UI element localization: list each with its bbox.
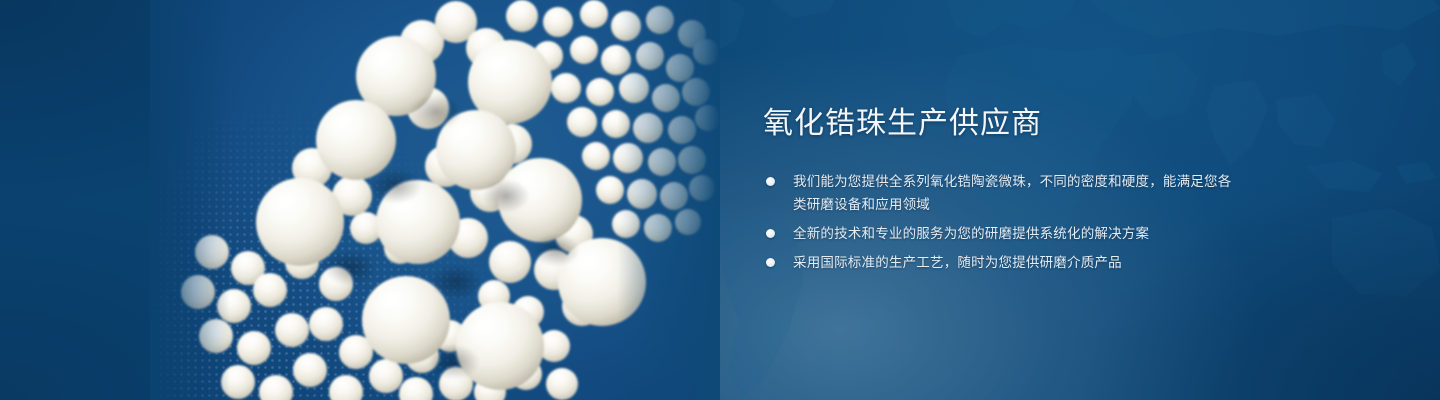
list-item-text: 我们能为您提供全系列氧化锆陶瓷微珠，不同的密度和硬度，能满足您各类研磨设备和应用…: [793, 174, 1231, 212]
list-item: 全新的技术和专业的服务为您的研磨提供系统化的解决方案: [763, 222, 1233, 245]
bead-cluster: [150, 0, 720, 400]
zirconia-beads-photo: [150, 0, 720, 400]
page-title: 氧化锆珠生产供应商: [763, 104, 1233, 144]
banner-copy: 氧化锆珠生产供应商 我们能为您提供全系列氧化锆陶瓷微珠，不同的密度和硬度，能满足…: [763, 104, 1233, 274]
hero-banner: 氧化锆珠生产供应商 我们能为您提供全系列氧化锆陶瓷微珠，不同的密度和硬度，能满足…: [0, 0, 1440, 400]
bullet-dot-icon: [766, 258, 775, 267]
list-item: 我们能为您提供全系列氧化锆陶瓷微珠，不同的密度和硬度，能满足您各类研磨设备和应用…: [763, 170, 1233, 216]
feature-list: 我们能为您提供全系列氧化锆陶瓷微珠，不同的密度和硬度，能满足您各类研磨设备和应用…: [763, 170, 1233, 274]
list-item-text: 采用国际标准的生产工艺，随时为您提供研磨介质产品: [793, 255, 1122, 270]
list-item-text: 全新的技术和专业的服务为您的研磨提供系统化的解决方案: [793, 226, 1149, 241]
bullet-dot-icon: [766, 229, 775, 238]
bullet-dot-icon: [766, 177, 775, 186]
list-item: 采用国际标准的生产工艺，随时为您提供研磨介质产品: [763, 251, 1233, 274]
